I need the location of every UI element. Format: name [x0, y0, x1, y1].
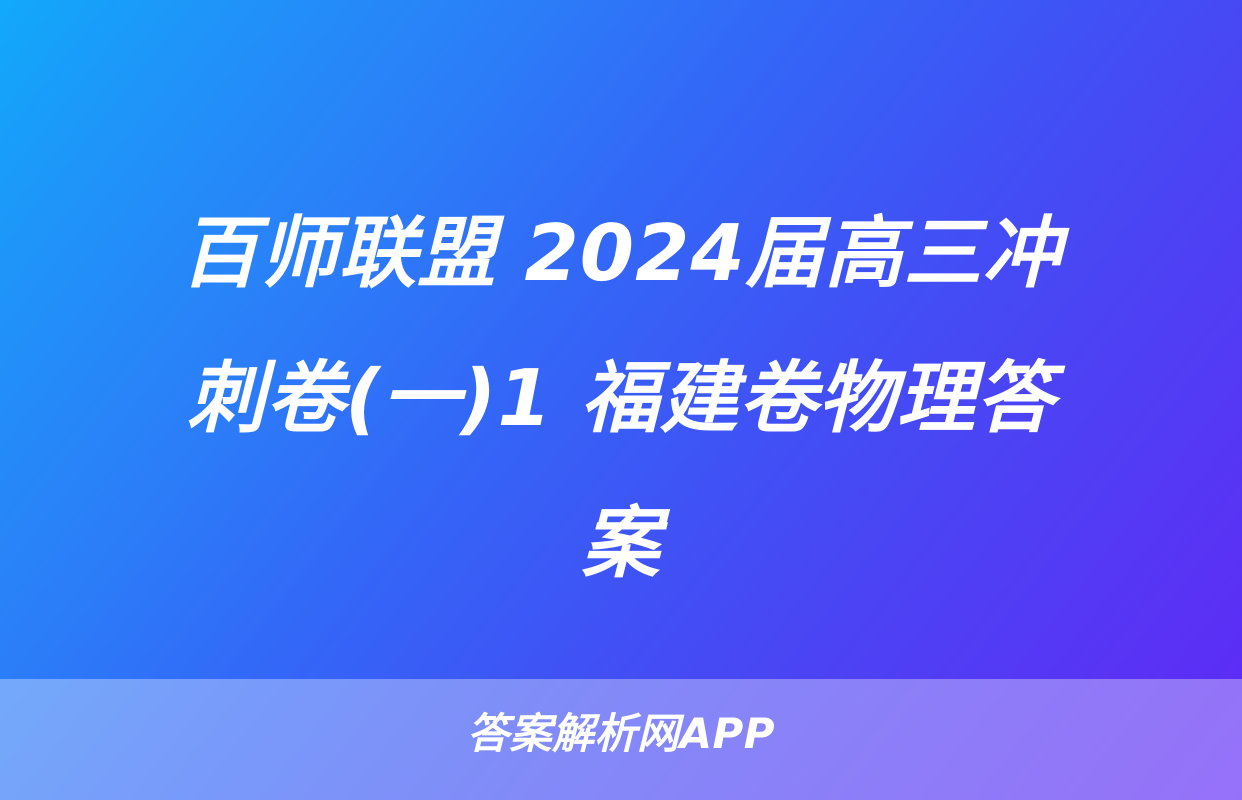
title-line-3: 案 — [62, 472, 1180, 617]
watermark-text: 答案解析网APP — [0, 706, 1242, 762]
title-line-2: 刺卷(一)1 福建卷物理答 — [62, 327, 1180, 472]
title-line-1: 百师联盟 2024届高三冲 — [62, 182, 1180, 327]
page-title: 百师联盟 2024届高三冲 刺卷(一)1 福建卷物理答 案 — [62, 182, 1180, 617]
poster-canvas: 百师联盟 2024届高三冲 刺卷(一)1 福建卷物理答 案 答案解析网APP — [0, 0, 1242, 800]
